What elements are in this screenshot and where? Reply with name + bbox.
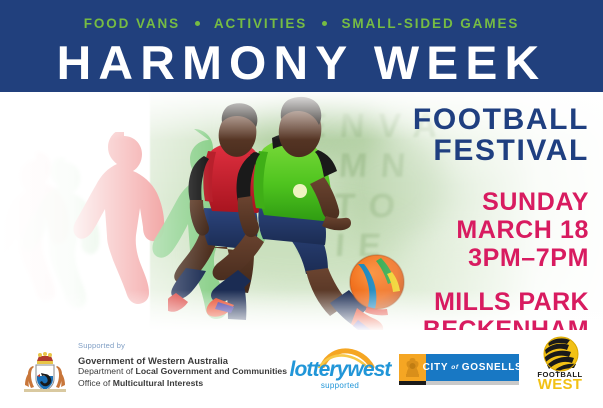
football-west-logo: FOOTBALL WEST <box>531 336 589 392</box>
poster: FOOD VANS ACTIVITIES SMALL-SIDED GAMES H… <box>0 0 603 408</box>
event-title-line1: FOOTBALL <box>383 104 589 135</box>
gosnells-city-word: CITY <box>423 362 449 373</box>
gosnells-name-bar: CITY of GOSNELLS <box>426 354 519 381</box>
event-title-line2: FESTIVAL <box>383 135 589 166</box>
football-west-ball-icon <box>541 336 581 372</box>
gov-line-3-bold: Multicultural Interests <box>113 378 203 388</box>
tagline-row: FOOD VANS ACTIVITIES SMALL-SIDED GAMES <box>0 16 603 31</box>
venue-line1: MILLS PARK <box>383 288 589 316</box>
lotterywest-logo: lotterywest supported <box>288 348 392 392</box>
header-band: FOOD VANS ACTIVITIES SMALL-SIDED GAMES H… <box>0 0 603 92</box>
supported-by-label: Supported by <box>78 341 125 350</box>
tagline-item-food-vans: FOOD VANS <box>84 16 180 31</box>
gosnells-of-word: of <box>451 364 459 371</box>
event-datetime: SUNDAY MARCH 18 3PM–7PM <box>383 188 589 272</box>
tagline-item-activities: ACTIVITIES <box>214 16 307 31</box>
tagline-item-small-sided-games: SMALL-SIDED GAMES <box>341 16 519 31</box>
gosnells-name-word: GOSNELLS <box>462 362 523 373</box>
event-date: MARCH 18 <box>383 216 589 244</box>
lotterywest-wordmark: lotterywest <box>288 359 392 381</box>
gov-line-3: Office of Multicultural Interests <box>78 378 287 389</box>
wa-state-crest-icon <box>18 352 72 394</box>
gosnells-grey-rule <box>426 381 519 385</box>
city-of-gosnells-logo: CITY of GOSNELLS <box>399 354 519 388</box>
bullet-dot-icon <box>322 21 327 26</box>
event-info-panel: FOOTBALL FESTIVAL SUNDAY MARCH 18 3PM–7P… <box>383 104 589 344</box>
page-title: HARMONY WEEK <box>0 38 603 88</box>
gov-line-2-bold: Local Government and Communities <box>136 366 288 376</box>
event-day: SUNDAY <box>383 188 589 216</box>
gov-line-2-plain: Department of <box>78 366 136 376</box>
gov-line-2: Department of Local Government and Commu… <box>78 366 287 377</box>
event-time: 3PM–7PM <box>383 244 589 272</box>
football-west-line2: WEST <box>531 377 589 393</box>
gov-line-1: Government of Western Australia <box>78 355 287 366</box>
event-title: FOOTBALL FESTIVAL <box>383 104 589 166</box>
lotterywest-tagline: supported <box>288 381 392 390</box>
government-sponsor-text: Government of Western Australia Departme… <box>78 355 287 389</box>
bullet-dot-icon <box>195 21 200 26</box>
gov-line-3-plain: Office of <box>78 378 113 388</box>
gosnells-black-rule <box>399 381 426 385</box>
